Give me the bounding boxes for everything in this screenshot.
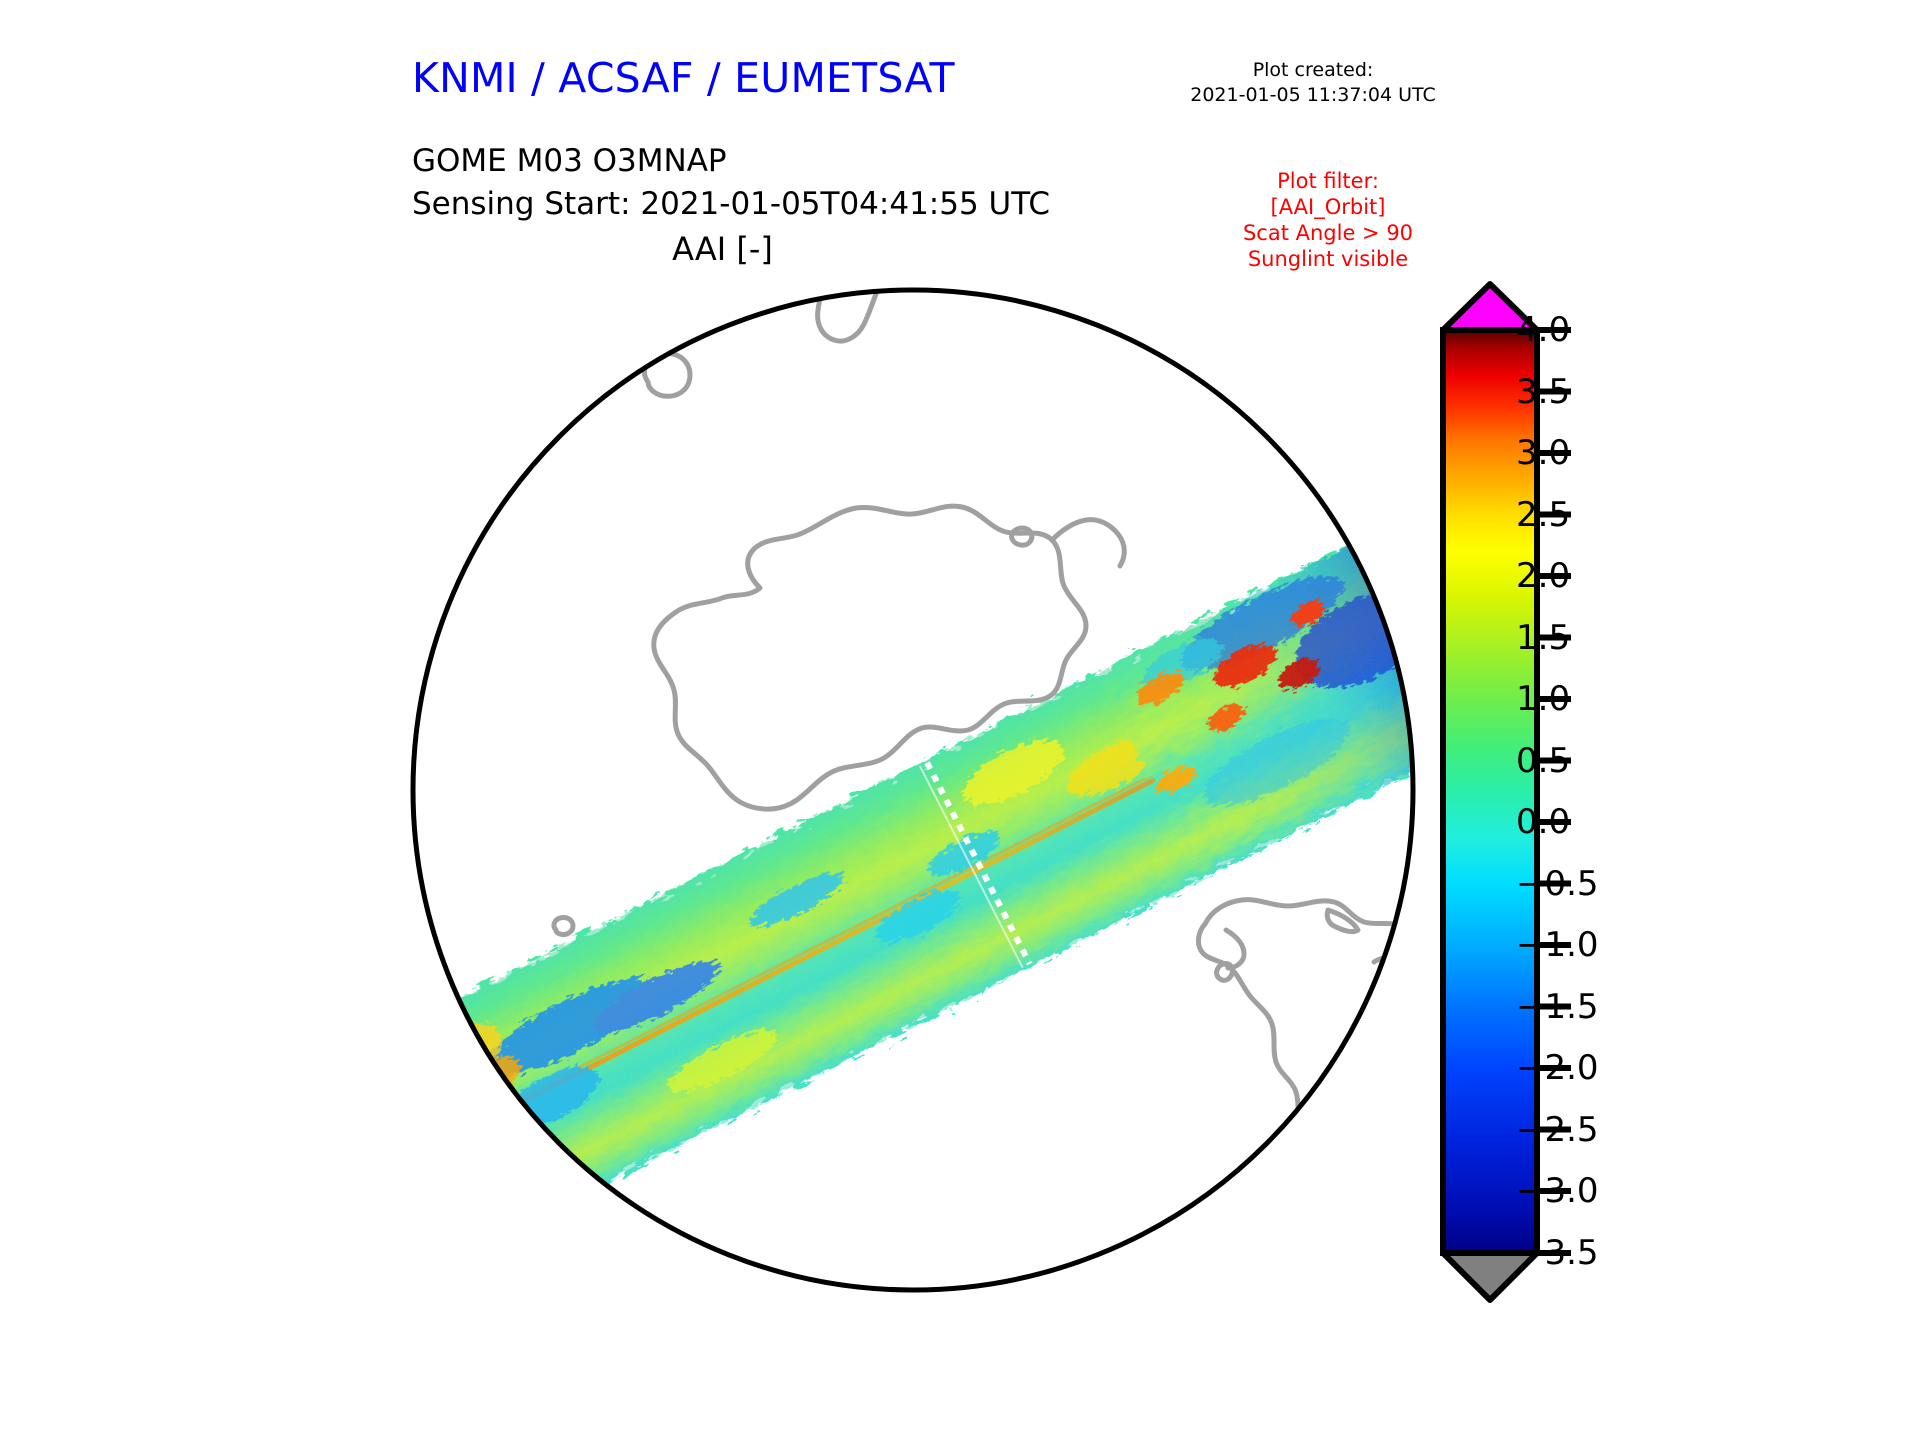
colorbar-tick-label: 0.0 xyxy=(1516,802,1570,842)
colorbar-tick-label: 3.5 xyxy=(1516,372,1570,412)
colorbar[interactable]: 4.0 3.5 3.0 2.5 2.0 1.5 1.0 0.5 0.0 −0.5… xyxy=(1430,270,1890,1320)
colorbar-tick-label: 4.0 xyxy=(1516,310,1570,350)
colorbar-tick-label: −2.5 xyxy=(1516,1110,1599,1150)
colorbar-tick-label: −1.5 xyxy=(1516,987,1599,1027)
colorbar-tick-label: −2.0 xyxy=(1516,1048,1599,1088)
coastline-new-zealand-north xyxy=(886,213,941,262)
colorbar-tick-label: 0.5 xyxy=(1516,741,1570,781)
colorbar-svg xyxy=(1430,270,1890,1320)
colorbar-tick-label: 1.5 xyxy=(1516,618,1570,658)
colorbar-tick-label: 3.0 xyxy=(1516,433,1570,473)
colorbar-tick-label: −0.5 xyxy=(1516,864,1599,904)
colorbar-tick-label: −3.0 xyxy=(1516,1171,1599,1211)
coastline-australia-fragment xyxy=(600,321,662,332)
globe-svg xyxy=(0,0,1445,1440)
colorbar-tick-label: 2.0 xyxy=(1516,556,1570,596)
colorbar-tick-label: 2.5 xyxy=(1516,495,1570,535)
colorbar-tick-label: −3.5 xyxy=(1516,1233,1599,1273)
globe-map-panel[interactable] xyxy=(0,0,1445,1440)
colorbar-tick-label: −1.0 xyxy=(1516,925,1599,965)
colorbar-tick-label: 1.0 xyxy=(1516,679,1570,719)
